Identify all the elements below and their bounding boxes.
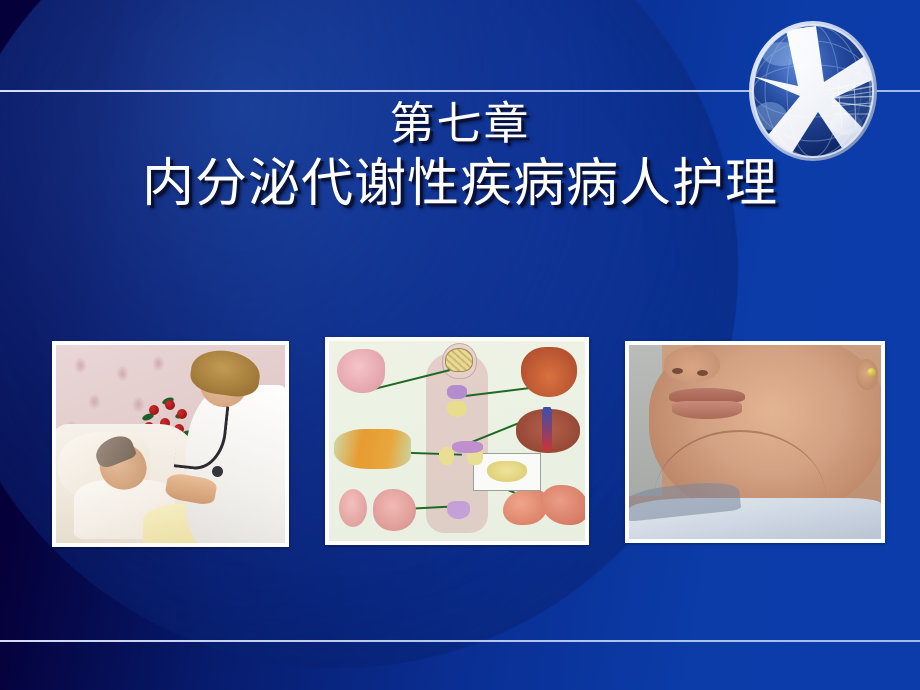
pancreas-inbody — [452, 441, 483, 453]
patient-lower-lip — [672, 401, 743, 418]
face-scene — [629, 345, 881, 539]
spleen-organ-2 — [541, 485, 585, 525]
wall-motif — [88, 393, 101, 410]
pancreas-organ — [334, 429, 411, 469]
thymus-gland-inbody — [447, 401, 467, 417]
endocrine-scene — [329, 341, 585, 541]
background-ellipse-shade — [0, 0, 738, 668]
testis-organ — [339, 489, 367, 527]
wall-motif — [152, 355, 165, 372]
globe-starburst-icon — [742, 20, 884, 162]
brain-pituitary — [445, 348, 473, 372]
divider-line-bottom — [0, 640, 920, 642]
thyroid-gland-inbody — [447, 385, 467, 399]
nurse-scene — [56, 345, 285, 543]
globe-logo — [742, 20, 884, 162]
uterus-organ — [487, 461, 527, 482]
stethoscope-bell — [212, 466, 223, 477]
diagram-endocrine-system — [325, 337, 589, 545]
nurse-hair — [188, 346, 262, 399]
presentation-slide: 第七章 内分泌代谢性疾病病人护理 — [0, 0, 920, 690]
uterus-inset-box — [473, 453, 542, 491]
photo-nurse-with-elderly-patient — [52, 341, 289, 547]
spleen-organ — [503, 489, 547, 525]
background-ellipse — [0, 0, 738, 668]
thyroid-organ — [521, 347, 577, 397]
patient-nose — [664, 347, 719, 382]
kidney-vessel — [542, 407, 552, 451]
wall-motif — [116, 365, 129, 382]
ovary-organ — [337, 349, 386, 393]
photo-patient-moon-face — [625, 341, 885, 543]
gonad-inbody — [447, 501, 470, 519]
wall-motif — [74, 357, 87, 374]
testis-organ-2 — [373, 489, 417, 531]
